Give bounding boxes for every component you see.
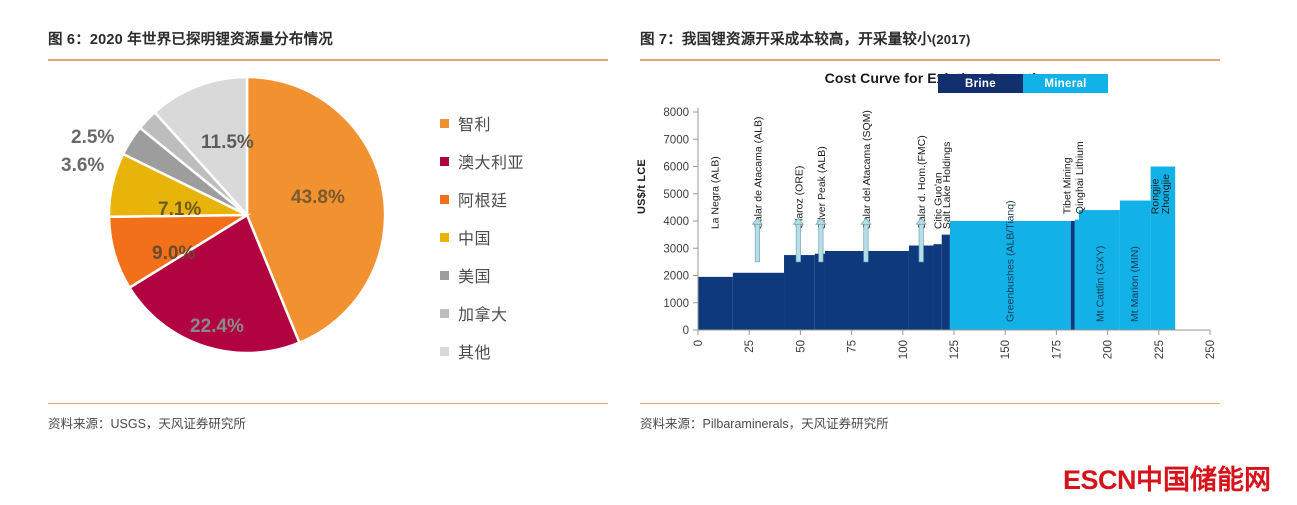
- pie-value-label: 3.6%: [61, 155, 104, 177]
- y-tick-label: 1000: [663, 298, 689, 310]
- cost-bar: [1071, 221, 1075, 330]
- cost-bar: [942, 235, 950, 330]
- pie-value-label: 9.0%: [152, 243, 195, 265]
- legend-label: 智利: [458, 111, 491, 135]
- cost-curve-plot: US$/t LCE 010002000300040005000600070008…: [640, 94, 1220, 384]
- cost-bar: [1075, 220, 1079, 330]
- pie-value-label: 43.8%: [291, 187, 345, 209]
- legend-swatch-icon: [440, 119, 449, 128]
- bar-callout-label: Salar del Atacama (SQM): [861, 110, 873, 229]
- cost-bar: [815, 254, 825, 330]
- pie-graphic: [106, 74, 388, 356]
- bar-inner-label: Greenbushes (ALB/Tianq): [1004, 200, 1016, 322]
- legend-label: 阿根廷: [458, 187, 508, 211]
- bar-callout-label: Salar de Atacama (ALB): [752, 117, 764, 230]
- figure-6-source: 资料来源：USGS，天风证券研究所: [48, 413, 608, 432]
- pie-chart: 43.8% 22.4% 9.0% 7.1% 3.6% 2.5% 11.5% 智利…: [48, 64, 608, 394]
- watermark-latin: ESCN: [1063, 465, 1136, 495]
- x-tick-label: 175: [1051, 340, 1063, 359]
- legend-item[interactable]: 加拿大: [440, 294, 600, 332]
- legend-swatch-icon: [440, 233, 449, 242]
- legend-label: 加拿大: [458, 301, 508, 325]
- legend-label: 美国: [458, 263, 491, 287]
- y-tick-label: 8000: [663, 107, 689, 119]
- y-tick-label: 5000: [663, 189, 689, 201]
- legend-item[interactable]: 阿根廷: [440, 180, 600, 218]
- pie-value-label: 2.5%: [71, 127, 114, 149]
- legend-label: 澳大利亚: [458, 149, 524, 173]
- x-tick-label: 25: [744, 340, 756, 353]
- legend-label: 其他: [458, 339, 491, 363]
- cost-curve-chart: Cost Curve for Existing Operations Brine…: [640, 64, 1220, 394]
- cost-bar: [733, 273, 784, 330]
- legend-item[interactable]: 其他: [440, 332, 600, 370]
- bar-callout-label: Silver Peak (ALB): [816, 146, 828, 229]
- legend-swatch-icon: [440, 347, 449, 356]
- figure-7-title-year: (2017): [932, 32, 971, 47]
- pie-value-label: 22.4%: [190, 316, 244, 338]
- x-tick-label: 125: [949, 340, 961, 359]
- bar-outer-label: Tibet Mining: [1062, 157, 1074, 214]
- figure-7-title-text: 图 7：我国锂资源开采成本较高，开采量较小: [640, 32, 932, 48]
- legend-swatch-icon: [440, 157, 449, 166]
- x-tick-label: 50: [795, 340, 807, 353]
- escn-watermark: ESCN中国储能网: [1063, 458, 1271, 497]
- legend-swatch-icon: [440, 195, 449, 204]
- legend-swatch-icon: [440, 271, 449, 280]
- legend-mineral[interactable]: Mineral: [1023, 74, 1108, 93]
- bar-callout-label: Salt Lake Holdings: [941, 142, 953, 230]
- watermark-cn: 中国储能网: [1136, 465, 1271, 495]
- cost-bar: [934, 244, 942, 330]
- pie-value-label: 7.1%: [158, 199, 201, 221]
- legend-label: 中国: [458, 225, 491, 249]
- cost-bar: [784, 255, 815, 330]
- x-tick-label: 0: [693, 340, 705, 346]
- x-tick-label: 75: [847, 340, 859, 353]
- x-tick-label: 100: [898, 340, 910, 359]
- y-tick-label: 7000: [663, 134, 689, 146]
- report-page: 图 6：2020 年世界已探明锂资源量分布情况: [0, 0, 1297, 505]
- y-tick-label: 0: [683, 325, 689, 337]
- bar-inner-label: Mt Marion (MIN): [1129, 246, 1141, 322]
- figure-6-source-rule: [48, 403, 608, 404]
- legend-item[interactable]: 澳大利亚: [440, 142, 600, 180]
- y-tick-label: 6000: [663, 162, 689, 174]
- legend-item[interactable]: 美国: [440, 256, 600, 294]
- figure-6-title-rule: [48, 59, 608, 61]
- figure-7-title-rule: [640, 59, 1220, 61]
- bar-callout-label: La Negra (ALB): [709, 156, 721, 229]
- x-tick-label: 200: [1103, 340, 1115, 359]
- x-tick-label: 225: [1154, 340, 1166, 359]
- cost-bar: [698, 277, 733, 330]
- figure-7-source: 资料来源：Pilbaraminerals，天风证券研究所: [640, 413, 1220, 432]
- legend-brine[interactable]: Brine: [938, 74, 1023, 93]
- x-tick-label: 150: [1000, 340, 1012, 359]
- y-axis-label: US$/t LCE: [636, 159, 648, 214]
- bar-outer-label: Qinghai Lithium: [1074, 141, 1086, 214]
- figure-6-panel: 图 6：2020 年世界已探明锂资源量分布情况: [48, 30, 608, 450]
- cost-curve-legend: Brine Mineral: [938, 74, 1108, 93]
- y-tick-label: 2000: [663, 271, 689, 283]
- bar-inner-label: Mt Cattlin (GXY): [1094, 246, 1106, 322]
- pie-legend: 智利 澳大利亚 阿根廷 中国 美国: [440, 104, 600, 370]
- figure-7-title: 图 7：我国锂资源开采成本较高，开采量较小(2017): [640, 30, 1220, 50]
- bar-callout-label: Salar d. Hom.(FMC): [916, 135, 928, 229]
- x-tick-label: 250: [1205, 340, 1217, 359]
- cost-bar: [825, 251, 909, 330]
- y-tick-label: 4000: [663, 216, 689, 228]
- legend-item[interactable]: 智利: [440, 104, 600, 142]
- y-tick-label: 3000: [663, 243, 689, 255]
- legend-item[interactable]: 中国: [440, 218, 600, 256]
- figure-7-source-rule: [640, 403, 1220, 404]
- figure-7-panel: 图 7：我国锂资源开采成本较高，开采量较小(2017) Cost Curve f…: [640, 30, 1220, 450]
- bar-outer-label: Zhongjie: [1160, 174, 1172, 214]
- legend-swatch-icon: [440, 309, 449, 318]
- pie-value-label: 11.5%: [201, 132, 254, 154]
- figure-6-title: 图 6：2020 年世界已探明锂资源量分布情况: [48, 30, 608, 50]
- figure-6-title-text: 图 6：2020 年世界已探明锂资源量分布情况: [48, 32, 333, 48]
